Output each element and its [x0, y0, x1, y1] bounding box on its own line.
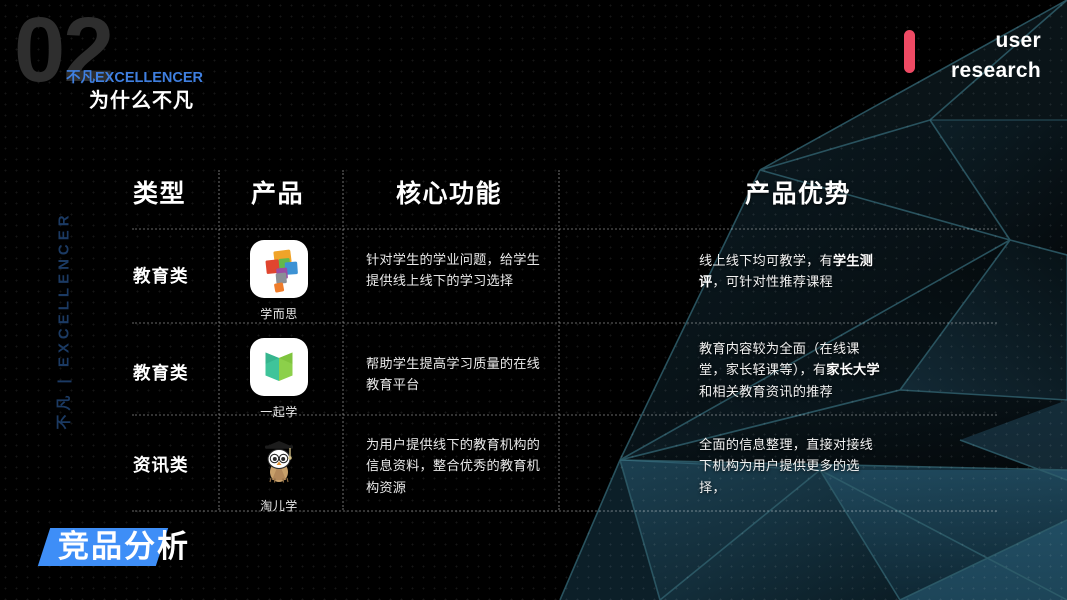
product-cell-2[interactable]: 一起学 — [234, 338, 324, 420]
puzzle-question-mark-icon — [250, 240, 308, 298]
table-header-function: 核心功能 — [396, 174, 502, 210]
column-separator-3 — [558, 170, 560, 510]
graduate-owl-icon — [250, 432, 308, 490]
advantage-suffix: 和相关教育资讯的推荐 — [699, 384, 833, 399]
core-function-cell-2: 帮助学生提高学习质量的在线教育平台 — [366, 353, 546, 396]
table-header-product: 产品 — [251, 174, 304, 210]
advantage-cell-2: 教育内容较为全面（在线课堂，家长轻课等），有家长大学和相关教育资讯的推荐 — [699, 338, 881, 402]
table-row: 教育类 — [133, 263, 189, 288]
table-row: 教育类 — [133, 360, 189, 385]
advantage-prefix: 线上线下均可教学，有 — [699, 253, 833, 268]
advantage-cell-3: 全面的信息整理，直接对接线下机构为用户提供更多的选择， — [699, 434, 881, 498]
product-cell-3[interactable]: 淘儿学 — [234, 432, 324, 514]
topic-title: user research — [951, 26, 1041, 86]
banner-label: 竞品分析 — [58, 528, 190, 566]
product-cell-1[interactable]: 学而思 — [234, 240, 324, 322]
core-function-cell-3: 为用户提供线下的教育机构的信息资料，整合优秀的教育机构资源 — [366, 434, 546, 498]
advantage-highlight: 家长大学 — [826, 362, 880, 377]
row-separator-header — [132, 228, 997, 230]
product-name: 淘儿学 — [234, 497, 324, 514]
section-chinese-label: 为什么不凡 — [89, 84, 194, 113]
accent-bar — [904, 30, 915, 73]
column-separator-1 — [218, 170, 220, 510]
column-separator-2 — [342, 170, 344, 510]
product-name: 学而思 — [234, 305, 324, 322]
topic-title-line1: user — [951, 26, 1041, 56]
row-separator-1 — [132, 322, 997, 324]
table-row: 资讯类 — [133, 452, 189, 477]
open-book-icon — [250, 338, 308, 396]
core-function-cell-1: 针对学生的学业问题，给学生提供线上线下的学习选择 — [366, 249, 546, 292]
advantage-cell-1: 线上线下均可教学，有学生测评，可针对性推荐课程 — [699, 250, 881, 293]
table-header-type: 类型 — [133, 174, 186, 210]
product-name: 一起学 — [234, 403, 324, 420]
slide-canvas: 02 不凡EXCELLENCER 为什么不凡 user research 不凡 … — [0, 0, 1067, 600]
advantage-suffix: ，可针对性推荐课程 — [712, 274, 833, 289]
vertical-brand-label: 不凡 | EXCELLENCER — [53, 206, 74, 436]
topic-title-line2: research — [951, 56, 1041, 86]
table-header-advantage: 产品优势 — [745, 174, 851, 210]
advantage-prefix: 全面的信息整理，直接对接线下机构为用户提供更多的选择， — [699, 437, 873, 495]
